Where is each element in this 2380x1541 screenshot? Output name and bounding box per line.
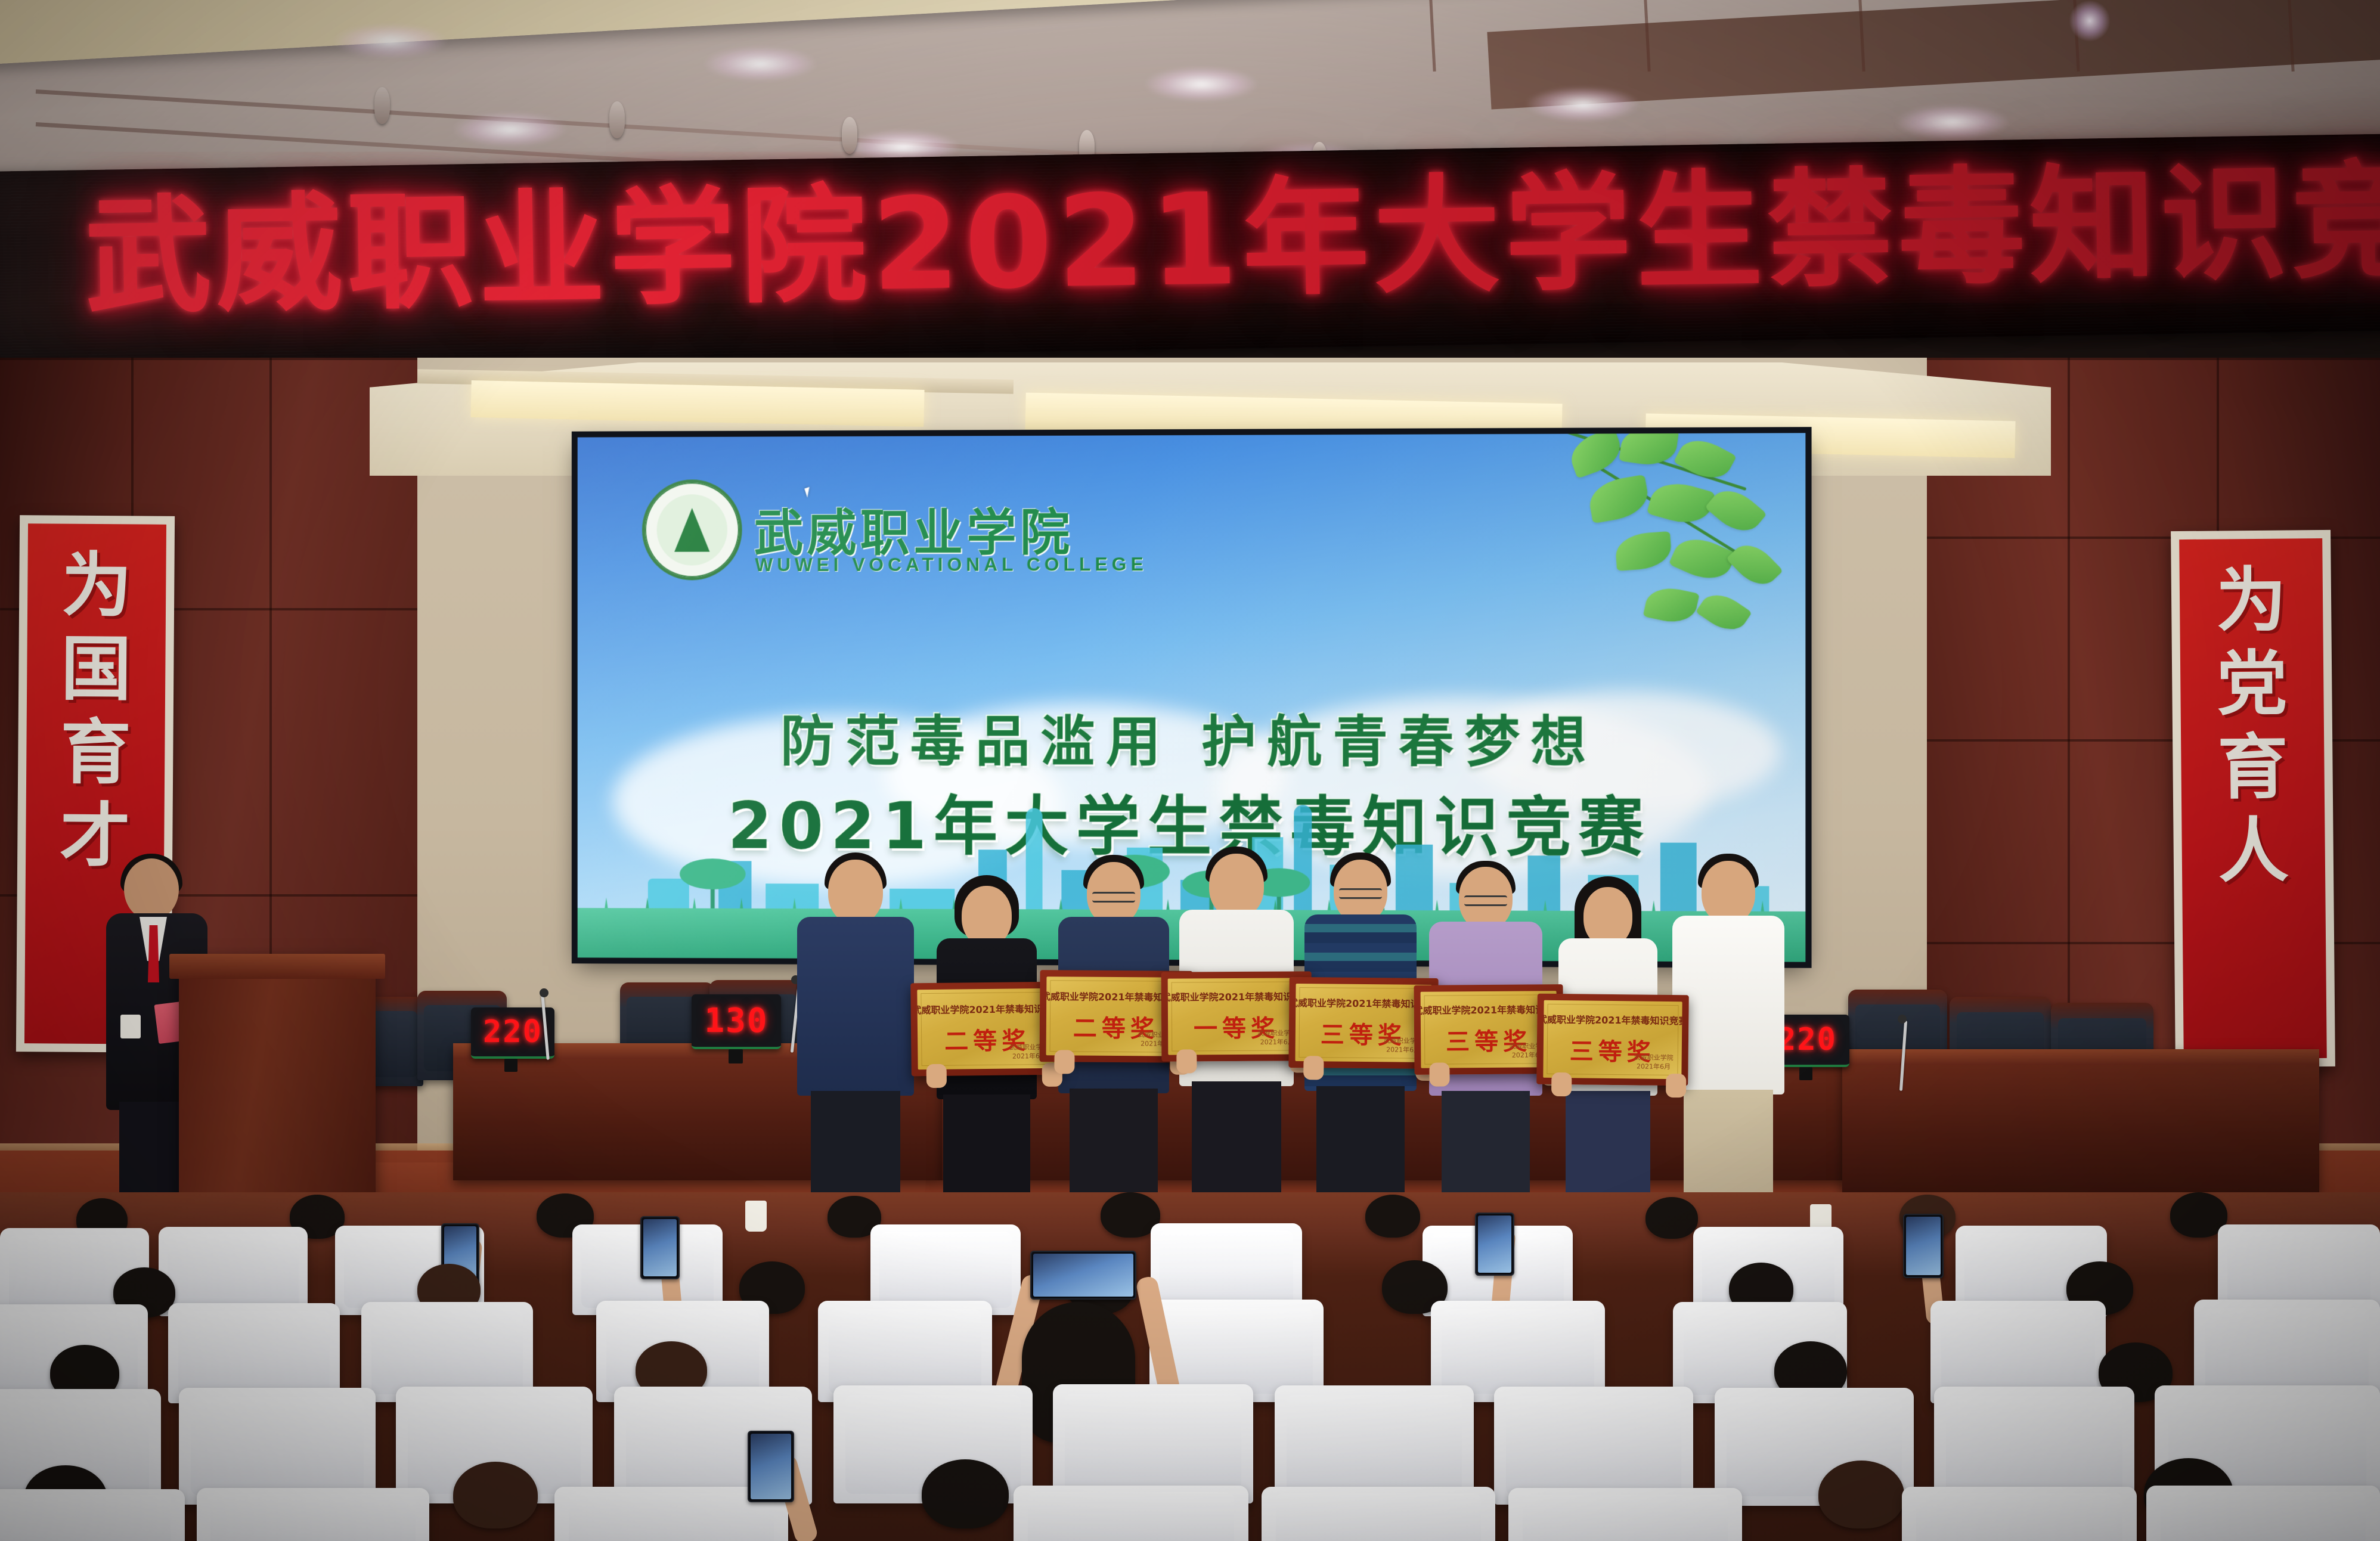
plaque-award: 三等奖 [1321, 1015, 1407, 1050]
plaque-date: 2021年6月 [1634, 1063, 1673, 1072]
smartphone [1903, 1214, 1944, 1278]
led-banner: 武威职业学院2021年大学生禁毒知识竞赛 [0, 134, 2380, 368]
audience-chair [197, 1488, 429, 1541]
audience-chair [1262, 1487, 1495, 1541]
plaque-title: 武威职业学院2021年禁毒知识竞赛 [1421, 1002, 1557, 1017]
spotlight-fixture [609, 101, 625, 138]
stage-person-leader-left [793, 852, 918, 1216]
scroll-right-char-4: 人 [2218, 815, 2289, 886]
microphone-head-icon [1898, 1015, 1907, 1024]
audience-head [922, 1459, 1009, 1528]
audience-head [453, 1462, 538, 1528]
person-head [962, 886, 1012, 947]
track-light-glow [1526, 87, 1640, 122]
audience-chair [1508, 1488, 1742, 1541]
paper-cup [745, 1201, 767, 1232]
award-plaque: 武威职业学院2021年禁毒知识竞赛 三等奖 武威职业学院 2021年6月 [1536, 994, 1689, 1086]
track-light-glow [334, 24, 447, 58]
smartphone [1475, 1213, 1514, 1276]
eyeglasses-icon [1092, 892, 1135, 903]
spotlight-fixture [842, 117, 857, 154]
audience-head [1818, 1461, 1904, 1528]
scroll-left-char-2: 国 [61, 634, 132, 705]
plaque-title: 武威职业学院2021年禁毒知识竞赛 [1295, 995, 1431, 1010]
smartphone [748, 1431, 794, 1502]
leaf-decoration [1498, 433, 1805, 661]
college-name-english: WUWEI VOCATIONAL COLLEGE [755, 553, 1147, 576]
plaque-award: 三等奖 [1570, 1032, 1656, 1068]
audience-chair [179, 1388, 376, 1505]
track-light-glow [704, 46, 817, 81]
host-tie [148, 925, 159, 982]
audience-chair [1494, 1387, 1693, 1505]
plaque-award: 二等奖 [944, 1021, 1031, 1057]
paper-cup [120, 1015, 141, 1038]
smartphone [1030, 1251, 1136, 1300]
college-logo-icon [642, 479, 742, 580]
person-head [1583, 887, 1632, 947]
scroll-right-char-3: 育 [2217, 731, 2288, 802]
scroll-right-char-1: 为 [2216, 565, 2287, 636]
judges-table [1842, 1049, 2319, 1192]
audience-chair [1275, 1385, 1474, 1503]
audience-chair [1902, 1487, 2137, 1541]
audience-chair [0, 1489, 185, 1541]
person-head [1209, 854, 1264, 918]
track-light-glow [1145, 67, 1258, 101]
audience-chair [2146, 1486, 2380, 1541]
score-value: 220 [483, 1014, 543, 1050]
person-shirt [797, 917, 914, 1096]
ceiling-downlight [2069, 0, 2111, 42]
plaque-award: 一等奖 [1194, 1009, 1279, 1044]
score-display: 130 [692, 994, 781, 1049]
score-display-stand [1799, 1067, 1812, 1080]
host-head [124, 858, 179, 920]
track-light-glow [1896, 105, 2009, 139]
person-head [1702, 861, 1755, 924]
scroll-left-char-1: 为 [61, 550, 132, 621]
ceiling-seam [1428, 0, 1436, 72]
score-display-stand [504, 1059, 517, 1072]
plaque-award: 三等奖 [1446, 1022, 1532, 1057]
plaque-signature: 武威职业学院 [1634, 1054, 1674, 1063]
plaque-award: 二等奖 [1073, 1009, 1159, 1044]
scroll-right-char-2: 党 [2217, 648, 2288, 719]
audience-head [1645, 1197, 1698, 1239]
eyeglasses-icon [1464, 895, 1507, 906]
audience-seating [0, 1192, 2380, 1541]
spotlight-fixture [374, 87, 390, 124]
eyeglasses-icon [1339, 888, 1382, 899]
score-display: 220 [471, 1007, 554, 1059]
audience-head [1365, 1195, 1420, 1238]
score-value: 130 [704, 1002, 768, 1040]
plaque-title: 武威职业学院2021年禁毒知识竞赛 [917, 1001, 1057, 1017]
screen-slogan: 防范毒品滥用 护航青春梦想 [578, 697, 1806, 777]
audience-chair [1014, 1486, 1248, 1541]
plaque-title: 武威职业学院2021年禁毒知识竞赛 [1543, 1012, 1682, 1028]
plaque-title: 武威职业学院2021年禁毒知识竞赛 [1168, 988, 1306, 1003]
person-head [828, 860, 883, 924]
track-light-glow [453, 112, 566, 147]
scroll-banner-right: 为 党 育 人 [2171, 530, 2335, 1068]
scroll-left-char-3: 育 [60, 717, 131, 788]
microphone-head-icon [540, 988, 548, 997]
auditorium-photo: 武威职业学院2021年大学生禁毒知识竞赛 [0, 0, 2380, 1541]
smartphone [640, 1216, 680, 1279]
score-display-stand [729, 1049, 743, 1063]
person-shirt [1672, 916, 1784, 1094]
